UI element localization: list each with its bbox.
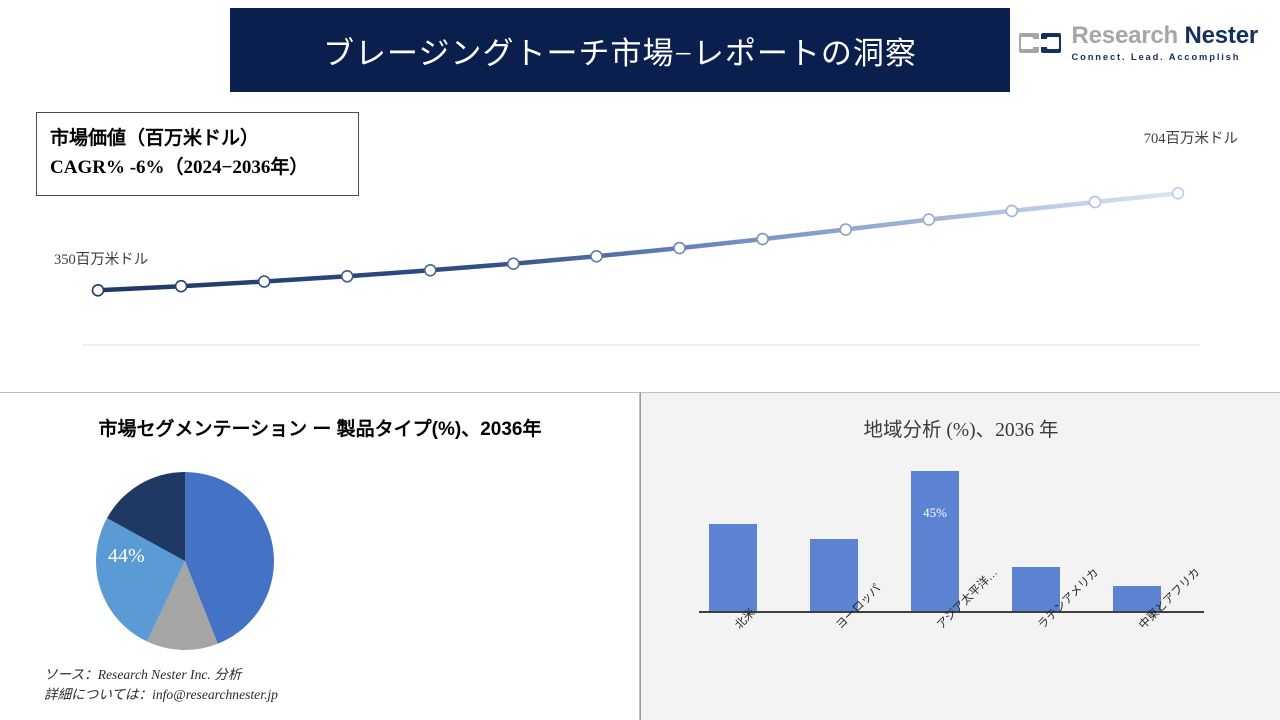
line-data-point [757, 234, 768, 245]
bottom-panels: 市場セグメンテーション ー 製品タイプ(%)、2036年 44% MIGMAGT… [0, 392, 1280, 720]
logo-name: Research Nester [1072, 24, 1258, 48]
bar-chart-category-labels: 北米ヨーロッパアジア太平洋…ラテンアメリカ中東とアフリカ [699, 615, 1204, 715]
interlocking-links-icon [1017, 26, 1063, 60]
bar-column: 45% [911, 471, 959, 611]
logo-text: Research Nester Connect. Lead. Accomplis… [1072, 24, 1258, 61]
source-note: ソース：Research Nester Inc. 分析 詳細については：info… [44, 665, 278, 706]
market-value-line-chart: 350百万米ドル 704百万米ドル 2022年2023年2024年2025年20… [0, 96, 1280, 391]
line-data-point [1173, 188, 1184, 199]
line-data-point [93, 285, 104, 296]
regional-panel: 地域分析 (%)、2036 年 45% 北米ヨーロッパアジア太平洋…ラテンアメリ… [640, 392, 1280, 720]
header-band: ブレージングトーチ市場−レポートの洞察 [230, 8, 1010, 92]
source-line-contact: 詳細については：info@researchnester.jp [44, 685, 278, 705]
line-data-point [342, 271, 353, 282]
bar-column [709, 524, 757, 611]
line-data-point [674, 243, 685, 254]
pie-data-label: 44% [108, 545, 145, 568]
regional-bar-chart: 45% [699, 455, 1204, 611]
line-data-point [840, 224, 851, 235]
line-data-point [1089, 197, 1100, 208]
line-data-point [508, 258, 519, 269]
line-data-point [923, 214, 934, 225]
bar-data-label: 45% [923, 505, 947, 521]
segmentation-title: 市場セグメンテーション ー 製品タイプ(%)、2036年 [40, 415, 600, 444]
logo-name-research: Research [1072, 22, 1185, 49]
regional-title: 地域分析 (%)、2036 年 [641, 413, 1280, 442]
research-nester-logo: Research Nester Connect. Lead. Accomplis… [1017, 24, 1258, 61]
logo-tagline: Connect. Lead. Accomplish [1072, 52, 1258, 61]
line-data-point [259, 276, 270, 287]
page-title: ブレージングトーチ市場−レポートの洞察 [323, 28, 917, 73]
line-data-point [425, 265, 436, 276]
line-chart-plot [0, 96, 1280, 356]
source-line-analysis: ソース：Research Nester Inc. 分析 [44, 665, 278, 685]
report-infographic-page: ブレージングトーチ市場−レポートの洞察 Research Nester Conn… [0, 0, 1280, 720]
line-data-point [591, 251, 602, 262]
logo-name-nester: Nester [1184, 22, 1258, 49]
segmentation-panel: 市場セグメンテーション ー 製品タイプ(%)、2036年 44% MIGMAGT… [0, 392, 640, 720]
line-data-point [176, 281, 187, 292]
line-data-point [1006, 205, 1017, 216]
